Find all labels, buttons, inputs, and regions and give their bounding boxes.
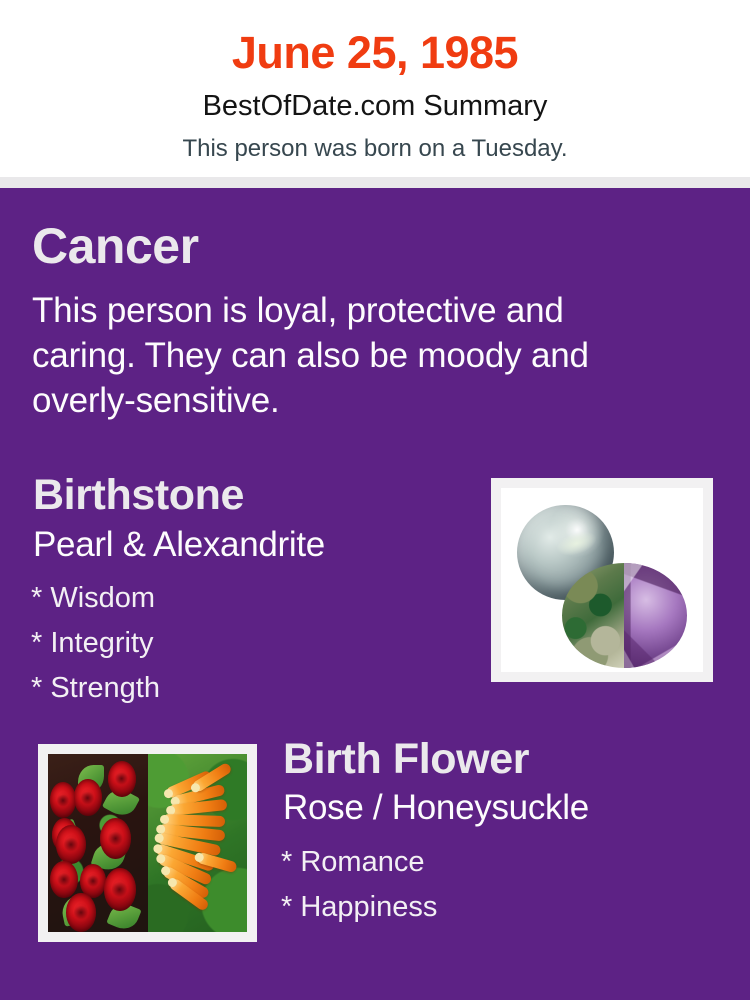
list-item: * Wisdom	[31, 576, 160, 621]
list-item: * Happiness	[281, 885, 437, 930]
birth-flower-heading: Birth Flower	[283, 738, 529, 781]
zodiac-description: This person is loyal, protective and car…	[32, 288, 652, 423]
site-name-subtitle: BestOfDate.com Summary	[0, 92, 750, 121]
roses-half	[48, 754, 148, 932]
honeysuckle-half	[148, 754, 248, 932]
alexandrite-rough-half	[562, 563, 625, 668]
page-title-date: June 25, 1985	[0, 0, 750, 75]
list-item: * Romance	[281, 840, 437, 885]
birthstone-subtitle: Pearl & Alexandrite	[33, 527, 325, 562]
page-header: June 25, 1985 BestOfDate.com Summary Thi…	[0, 0, 750, 177]
list-item: * Strength	[31, 666, 160, 711]
list-item: * Integrity	[31, 621, 160, 666]
header-divider	[0, 177, 750, 188]
zodiac-sign-heading: Cancer	[32, 221, 199, 271]
birthstone-heading: Birthstone	[33, 474, 244, 517]
summary-page: June 25, 1985 BestOfDate.com Summary Thi…	[0, 0, 750, 1000]
weekday-line: This person was born on a Tuesday.	[0, 137, 750, 161]
content-panel: Cancer This person is loyal, protective …	[0, 188, 750, 1000]
alexandrite-faceted-half	[624, 563, 687, 668]
birth-flower-photo	[48, 754, 247, 932]
birth-flower-image-frame	[38, 744, 257, 942]
birth-flower-subtitle: Rose / Honeysuckle	[283, 790, 589, 825]
birthstone-image-frame	[491, 478, 713, 682]
birthstone-photo	[501, 488, 703, 672]
birth-flower-trait-list: * Romance * Happiness	[281, 840, 437, 930]
birthstone-trait-list: * Wisdom * Integrity * Strength	[31, 576, 160, 711]
alexandrite-graphic	[562, 563, 687, 668]
